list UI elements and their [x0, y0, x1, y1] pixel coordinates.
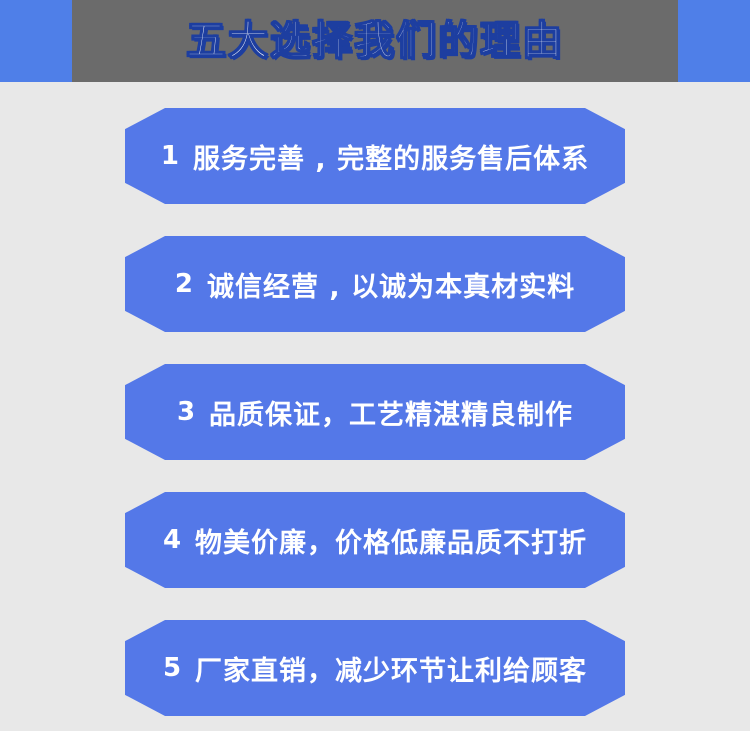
reason-label: 品质保证，工艺精湛精良制作 [209, 393, 573, 432]
reason-content: 1 服务完善 , 完整的服务售后体系 [161, 137, 589, 176]
page-header: 五大选择我们的理由 [0, 0, 750, 82]
list-item: 5 厂家直销，减少环节让利给顾客 [125, 620, 625, 716]
reason-number: 5 [163, 653, 181, 683]
reason-label: 厂家直销，减少环节让利给顾客 [195, 649, 587, 688]
list-item: 3 品质保证，工艺精湛精良制作 [125, 364, 625, 460]
reason-content: 2 诚信经营 , 以诚为本真材实料 [175, 265, 575, 304]
reason-number: 1 [161, 141, 179, 171]
page-title: 五大选择我们的理由 [0, 0, 750, 82]
reason-content: 5 厂家直销，减少环节让利给顾客 [163, 649, 587, 688]
reason-number: 2 [175, 269, 193, 299]
list-item: 2 诚信经营 , 以诚为本真材实料 [125, 236, 625, 332]
reason-content: 3 品质保证，工艺精湛精良制作 [177, 393, 573, 432]
reason-label: 服务完善 , 完整的服务售后体系 [193, 137, 589, 176]
reason-number: 4 [163, 525, 181, 555]
reasons-list: 1 服务完善 , 完整的服务售后体系 2 诚信经营 , 以诚为本真材实料 3 品… [0, 82, 750, 731]
promo-page: 五大选择我们的理由 1 服务完善 , 完整的服务售后体系 2 诚信经营 , 以诚… [0, 0, 750, 731]
list-item: 4 物美价廉，价格低廉品质不打折 [125, 492, 625, 588]
reason-label: 物美价廉，价格低廉品质不打折 [195, 521, 587, 560]
reason-label: 诚信经营 , 以诚为本真材实料 [207, 265, 575, 304]
reason-content: 4 物美价廉，价格低廉品质不打折 [163, 521, 587, 560]
list-item: 1 服务完善 , 完整的服务售后体系 [125, 108, 625, 204]
reason-number: 3 [177, 397, 195, 427]
